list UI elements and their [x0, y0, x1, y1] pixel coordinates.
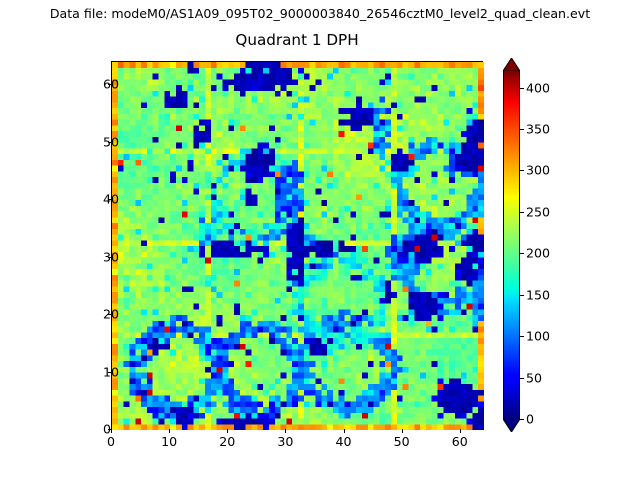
colorbar-tick-mark — [520, 295, 524, 296]
x-tick-label: 10 — [161, 434, 177, 449]
x-tick-mark — [227, 429, 228, 433]
heatmap-axes — [111, 61, 483, 429]
colorbar-tick-label: 200 — [526, 246, 550, 261]
colorbar-extend-top-arrow — [503, 58, 520, 71]
x-tick-label: 50 — [394, 434, 410, 449]
colorbar-tick-mark — [520, 419, 524, 420]
heatmap-image — [112, 62, 484, 430]
colorbar-tick-label: 400 — [526, 80, 550, 95]
axes-title: Quadrant 1 DPH — [111, 31, 483, 49]
colorbar-tick-label: 50 — [526, 370, 542, 385]
colorbar-tick-label: 350 — [526, 122, 550, 137]
colorbar-tick-mark — [520, 336, 524, 337]
x-tick-label: 60 — [452, 434, 468, 449]
colorbar-tick-mark — [520, 170, 524, 171]
colorbar-tick-mark — [520, 88, 524, 89]
x-tick-label: 40 — [335, 434, 351, 449]
x-tick-mark — [169, 429, 170, 433]
colorbar-gradient — [503, 71, 520, 419]
colorbar-tick-mark — [520, 378, 524, 379]
x-tick-mark — [344, 429, 345, 433]
x-tick-mark — [402, 429, 403, 433]
figure-canvas: Data file: modeM0/AS1A09_095T02_90000038… — [0, 0, 640, 480]
colorbar-tick-label: 250 — [526, 204, 550, 219]
x-tick-mark — [285, 429, 286, 433]
colorbar-tick-label: 300 — [526, 163, 550, 178]
figure-suptitle: Data file: modeM0/AS1A09_095T02_90000038… — [0, 6, 640, 21]
colorbar-tick-mark — [520, 212, 524, 213]
colorbar-tick-mark — [520, 129, 524, 130]
x-tick-label: 20 — [219, 434, 235, 449]
colorbar-tick-label: 0 — [526, 412, 534, 427]
colorbar-tick-label: 150 — [526, 287, 550, 302]
colorbar-tick-label: 100 — [526, 329, 550, 344]
x-tick-mark — [111, 429, 112, 433]
x-tick-label: 30 — [277, 434, 293, 449]
x-tick-mark — [460, 429, 461, 433]
colorbar-tick-mark — [520, 253, 524, 254]
colorbar-extend-bottom-arrow — [503, 419, 520, 432]
